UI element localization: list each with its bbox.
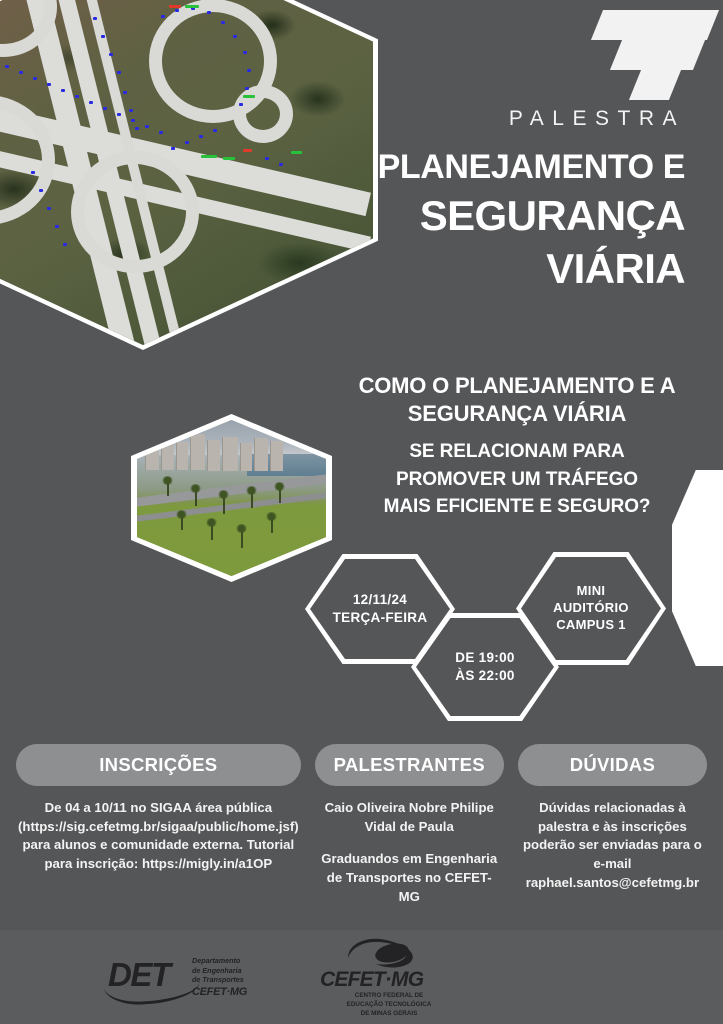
question-line-1: COMO O PLANEJAMENTO E A — [336, 372, 698, 400]
palestrantes-names: Caio Oliveira Nobre Philipe Vidal de Pau… — [315, 799, 504, 836]
badge-time-line-1: DE 19:00 — [455, 649, 514, 667]
det-swoosh-icon — [104, 982, 201, 1007]
column-palestrantes: PALESTRANTES Caio Oliveira Nobre Philipe… — [315, 744, 504, 907]
badge-date-line-1: 12/11/24 — [333, 591, 428, 609]
question-line-4: PROMOVER UM TRÁFEGO — [336, 467, 698, 493]
cefet-subtitle: CENTRO FEDERAL DE EDUCAÇÃO TECNOLÓGICA D… — [334, 991, 444, 1018]
det-subtitle: Departamento de Engenharia de Transporte… — [192, 956, 244, 985]
column-inscricoes: INSCRIÇÕES De 04 a 10/11 no SIGAA área p… — [16, 744, 301, 907]
aerial-traffic-image — [0, 0, 378, 350]
title-line-3: VIÁRIA — [360, 245, 685, 292]
badge-venue-line-3: CAMPUS 1 — [553, 617, 629, 634]
urban-render-image — [131, 414, 332, 582]
inscricoes-body[interactable]: De 04 a 10/11 no SIGAA área pública (htt… — [16, 799, 301, 874]
badge-venue-line-1: MINI — [553, 583, 629, 600]
pill-duvidas: DÚVIDAS — [518, 744, 707, 786]
question-block: COMO O PLANEJAMENTO E A SEGURANÇA VIÁRIA… — [336, 372, 710, 520]
question-line-3: SE RELACIONAM PARA — [336, 439, 698, 465]
palestrantes-affiliation: Graduandos em Engenharia de Transportes … — [315, 850, 504, 906]
aerial-image-content — [0, 0, 373, 345]
info-columns: INSCRIÇÕES De 04 a 10/11 no SIGAA área p… — [16, 744, 707, 907]
checkered-flag-icon — [589, 2, 709, 112]
footer-bar: DET Departamento de Engenharia de Transp… — [0, 930, 723, 1024]
pill-palestrantes: PALESTRANTES — [315, 744, 504, 786]
cefet-swirl-icon — [342, 936, 418, 970]
cefet-wordmark: CEFET·MG — [320, 968, 423, 992]
badge-time-line-2: ÀS 22:00 — [455, 667, 514, 685]
det-cefet-wordmark: CEFET·MG — [192, 986, 247, 998]
badge-venue-line-2: AUDITÓRIO — [553, 600, 629, 617]
question-line-5: MAIS EFICIENTE E SEGURO? — [336, 494, 698, 520]
kicker-label: PALESTRA — [360, 108, 685, 129]
pill-inscricoes: INSCRIÇÕES — [16, 744, 301, 786]
headline-block: PALESTRA PLANEJAMENTO E SEGURANÇA VIÁRIA — [360, 108, 705, 292]
poster-canvas: PALESTRA PLANEJAMENTO E SEGURANÇA VIÁRIA… — [0, 0, 723, 1024]
cefet-logo: CEFET·MG CENTRO FEDERAL DE EDUCAÇÃO TECN… — [318, 934, 458, 1016]
title-line-2: SEGURANÇA — [360, 192, 685, 239]
det-logo: DET Departamento de Engenharia de Transp… — [108, 948, 308, 1004]
duvidas-body[interactable]: Dúvidas relacionadas à palestra e às ins… — [518, 799, 707, 893]
title-line-1: PLANEJAMENTO E — [360, 149, 685, 186]
question-line-2: SEGURANÇA VIÁRIA — [336, 400, 698, 428]
column-duvidas: DÚVIDAS Dúvidas relacionadas à palestra … — [518, 744, 707, 907]
badge-venue: MINI AUDITÓRIO CAMPUS 1 — [516, 552, 666, 665]
